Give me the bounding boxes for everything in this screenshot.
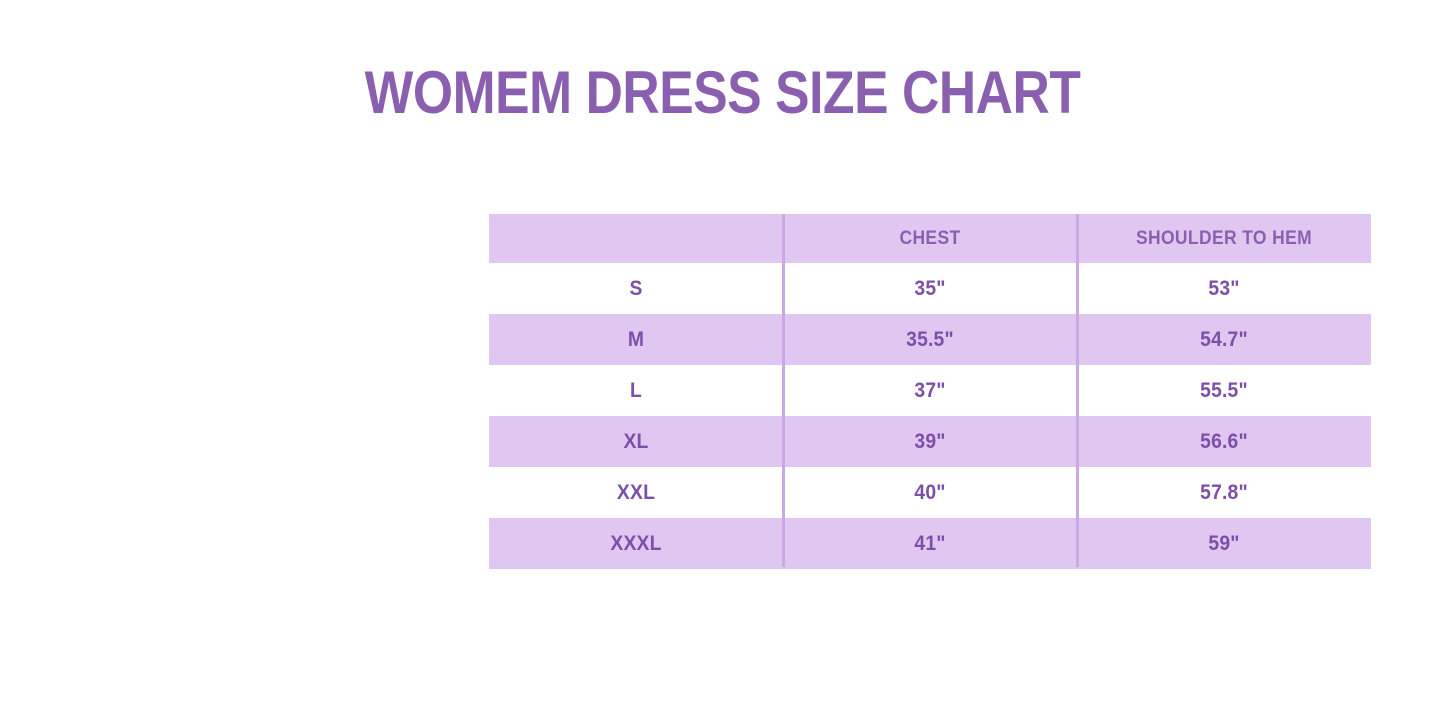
table-row: XL 39" 56.6" (489, 416, 1371, 467)
cell-shoulder-to-hem: 56.6" (1089, 416, 1359, 467)
table-row: L 37" 55.5" (489, 365, 1371, 416)
header-cell-chest: CHEST (795, 214, 1065, 263)
cell-size: L (501, 365, 771, 416)
cell-shoulder-to-hem: 54.7" (1089, 314, 1359, 365)
cell-size: S (501, 263, 771, 314)
cell-shoulder-to-hem: 55.5" (1089, 365, 1359, 416)
table-row: S 35" 53" (489, 263, 1371, 314)
cell-size: XL (501, 416, 771, 467)
cell-size: M (501, 314, 771, 365)
size-chart-table: CHEST SHOULDER TO HEM S 35" 53" M 35.5" … (489, 214, 1371, 569)
cell-chest: 35" (795, 263, 1065, 314)
cell-chest: 35.5" (795, 314, 1065, 365)
table-row: M 35.5" 54.7" (489, 314, 1371, 365)
cell-chest: 40" (795, 467, 1065, 518)
cell-size: XXL (501, 467, 771, 518)
cell-chest: 41" (795, 518, 1065, 569)
table-header-row: CHEST SHOULDER TO HEM (489, 214, 1371, 263)
header-cell-size (501, 214, 771, 263)
cell-chest: 37" (795, 365, 1065, 416)
cell-chest: 39" (795, 416, 1065, 467)
header-cell-shoulder-to-hem: SHOULDER TO HEM (1089, 214, 1359, 263)
table-row: XXL 40" 57.8" (489, 467, 1371, 518)
page-title: WOMEM DRESS SIZE CHART (101, 58, 1344, 128)
cell-shoulder-to-hem: 59" (1089, 518, 1359, 569)
cell-shoulder-to-hem: 53" (1089, 263, 1359, 314)
cell-shoulder-to-hem: 57.8" (1089, 467, 1359, 518)
cell-size: XXXL (501, 518, 771, 569)
table-row: XXXL 41" 59" (489, 518, 1371, 569)
